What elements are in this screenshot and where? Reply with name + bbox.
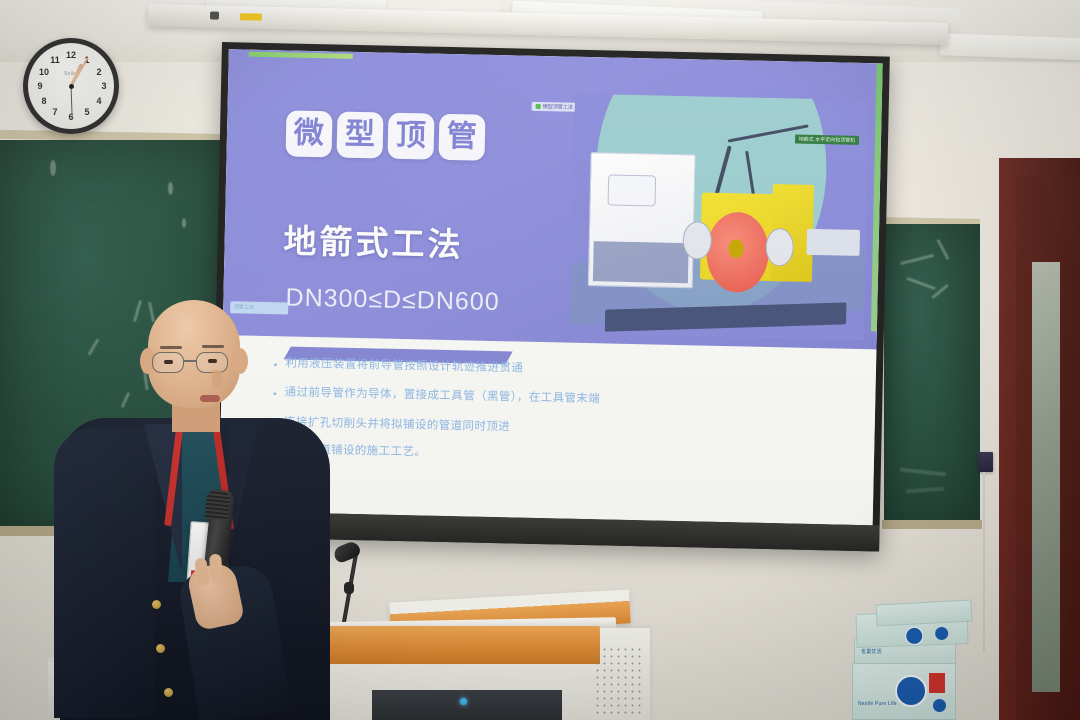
bullet-item: 通过前导管作为导体，置接成工具管（黑管），在工具管末端 xyxy=(273,384,823,413)
presenter-mouth xyxy=(200,395,220,402)
wall-clock: Seiko 12 1 2 3 4 5 6 7 8 9 10 11 xyxy=(23,38,119,134)
cabinet-window xyxy=(607,174,656,206)
carton-brand-cn-text: 雀巢优活 xyxy=(861,648,882,655)
microphone-mesh-head xyxy=(204,489,230,521)
presenter xyxy=(60,300,330,720)
carton-logo-small-icon xyxy=(933,699,946,712)
clock-center-pin xyxy=(69,84,74,89)
clock-numeral: 11 xyxy=(49,55,61,65)
jacket-button xyxy=(164,688,173,697)
bullet-item: 完成管道铺设的施工工艺。 xyxy=(272,442,822,471)
watermark-text: 微型顶管工法 xyxy=(543,103,573,111)
clock-numeral: 5 xyxy=(81,107,93,117)
classroom-scene: Seiko 12 1 2 3 4 5 6 7 8 9 10 11 xyxy=(0,0,1080,720)
light-switch-panel[interactable] xyxy=(978,452,993,472)
bullet-continuation-text: 连接扩孔切削头并将拟铺设的管道同时顶进 xyxy=(284,414,823,442)
machine-wheel-hub xyxy=(728,239,743,259)
housing-label-sticker xyxy=(240,13,262,21)
cabinet-lower-slot xyxy=(593,241,689,283)
presenter-eyebrow xyxy=(160,346,182,349)
housing-mount-bracket xyxy=(210,11,219,19)
podium-front-panel xyxy=(372,690,562,720)
podium-speaker-grille xyxy=(594,646,644,716)
clock-numeral: 8 xyxy=(38,96,50,106)
machine-caption-tag: 地箭式 水平定向钻顶管机 xyxy=(795,135,860,145)
clock-numeral: 9 xyxy=(34,81,46,91)
carton-logo-icon xyxy=(895,675,927,707)
slide-subtitle: 地箭式工法 xyxy=(283,214,464,266)
eyeglass-bridge xyxy=(184,360,196,362)
presenter-eyebrow xyxy=(202,345,224,348)
machine-illustration: 地箭式 水平定向钻顶管机 xyxy=(569,94,868,341)
bullet-item: 利用液压装置将前导管按照设计轨迹推进贯通 xyxy=(274,355,824,384)
title-char-box: 顶 xyxy=(387,113,434,160)
presenter-eye-right xyxy=(208,359,217,363)
podium-microphone-joint xyxy=(344,582,354,594)
carton-brand-text: Nestlé Pure Life xyxy=(858,701,897,707)
carton-logo-icon xyxy=(905,627,924,646)
blackboard-right xyxy=(884,224,980,524)
machine-pipe xyxy=(807,228,861,256)
door-glass-panel xyxy=(1032,262,1060,692)
jacket-button xyxy=(156,644,165,653)
title-char-box: 微 xyxy=(285,110,332,157)
machine-control-cabinet xyxy=(588,152,696,288)
water-carton-stack: Nestlé Pure Life 雀巢优活 xyxy=(852,604,1002,720)
bullet-text: 通过前导管作为导体，置接成工具管（黑管），在工具管末端 xyxy=(284,385,600,409)
clock-numeral: 3 xyxy=(98,81,110,91)
podium-wood-trim xyxy=(310,626,600,664)
podium-power-led-icon xyxy=(460,698,467,705)
chalk-mark xyxy=(182,218,186,228)
watermark-dot-icon xyxy=(536,104,541,109)
jacket-button xyxy=(152,600,161,609)
clock-numeral: 10 xyxy=(38,67,50,77)
presenter-finger xyxy=(209,554,223,583)
carton-bottom: Nestlé Pure Life xyxy=(852,662,956,720)
presenter-left-shoulder xyxy=(54,428,154,718)
clock-numeral: 7 xyxy=(49,107,61,117)
presenter-nose xyxy=(212,370,222,388)
chalk-mark xyxy=(168,182,173,195)
clock-numeral: 12 xyxy=(65,50,77,60)
lecture-podium[interactable] xyxy=(282,590,682,720)
clock-numeral: 2 xyxy=(93,67,105,77)
title-char-box: 型 xyxy=(336,112,383,159)
carton-red-band xyxy=(929,673,945,693)
chalk-mark xyxy=(50,160,56,176)
blackboard-ledge-right xyxy=(882,520,982,529)
slide-bullet-list: 利用液压装置将前导管按照设计轨迹推进贯通 通过前导管作为导体，置接成工具管（黑管… xyxy=(272,355,824,483)
clock-numeral: 4 xyxy=(93,96,105,106)
carton-logo-small-icon xyxy=(935,627,948,640)
slide-title: 微 型 顶 管 xyxy=(285,110,485,160)
title-char-box: 管 xyxy=(438,114,485,161)
slide-watermark: 微型顶管工法 xyxy=(532,102,577,112)
presenter-eye-left xyxy=(164,360,173,364)
